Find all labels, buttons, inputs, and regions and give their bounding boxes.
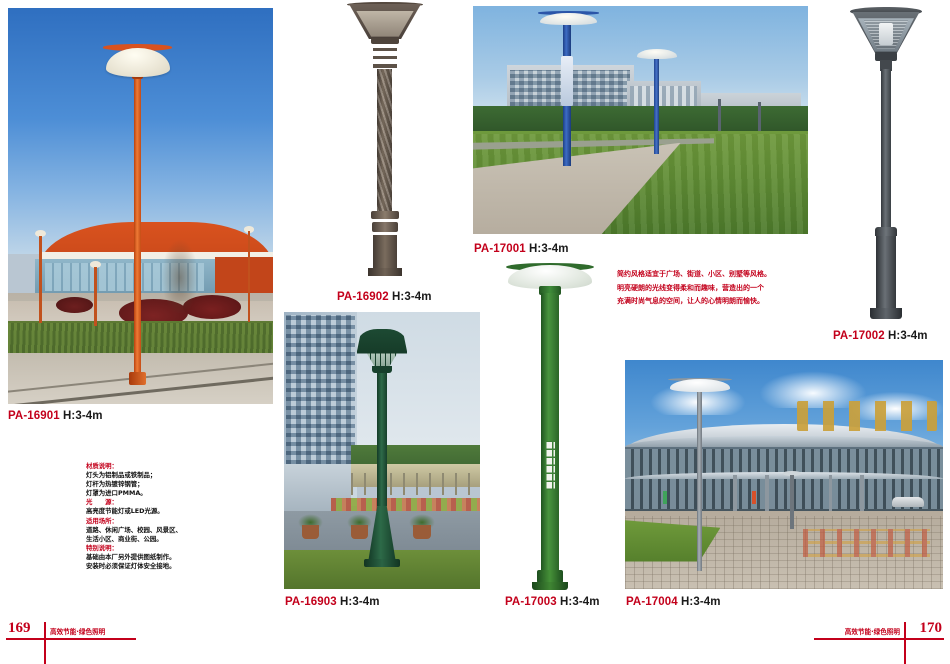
page-number-right: 170: [920, 620, 943, 637]
second-lamp-pole: [654, 58, 659, 154]
blurb-line-1: 简约风格适宜于广场、街道、小区、别墅等风格。: [617, 268, 832, 282]
lamp-pole-base: [129, 372, 146, 385]
background-lamp-pole-2: [94, 267, 97, 326]
pole-shaft: [377, 373, 387, 506]
footer-tagline-right: 高效节能·绿色照明: [845, 626, 900, 636]
pole-knob-lower: [372, 222, 398, 233]
material-heading: 材质说明：: [86, 462, 256, 471]
product-code: PA-17002: [833, 330, 885, 342]
lamp-shade: [357, 329, 408, 354]
pole-bell: [875, 227, 897, 237]
applicable-places-line-1: 道路、休闲广场、校园、风景区、: [86, 526, 256, 535]
material-line-1: 灯头为铝制品或铁制品；: [86, 471, 256, 480]
product-height: H:3-4m: [681, 596, 721, 608]
applicable-places-heading: 适用场所：: [86, 517, 256, 526]
pole-shaft: [881, 69, 891, 228]
red-shrub-left: [56, 297, 93, 313]
material-line-2: 灯杆为热镀锌钢管；: [86, 480, 256, 489]
product-code: PA-16901: [8, 410, 60, 422]
planter-pot-3: [413, 525, 431, 539]
product-photo-pa-17003: [495, 258, 605, 590]
applicable-places-line-2: 生活小区、商业街、公园。: [86, 535, 256, 544]
pole-foot: [364, 559, 399, 567]
background-post-1: [718, 99, 721, 131]
pole-lower-section: [373, 235, 397, 270]
caption-pa-17001: PA-17001 H:3-4m: [474, 243, 569, 255]
catalog-page-spread: PA-16901 H:3-4m PA-16902 H:3-4m: [0, 0, 950, 654]
pole-ring-3: [373, 64, 397, 68]
shade-collar: [371, 38, 400, 45]
footer-rule-right: [814, 638, 944, 640]
footer-divider-right: [904, 622, 906, 664]
special-note-line-2: 安装时必须保证灯体安全接地。: [86, 562, 256, 571]
bare-tree: [159, 234, 201, 313]
specification-block: 材质说明： 灯头为铝制品或铁制品； 灯杆为热镀锌钢管； 灯罩为进口PMMA。 光…: [86, 462, 256, 571]
caption-pa-17004: PA-17004 H:3-4m: [626, 596, 721, 608]
blurb-line-3: 充满时尚气息的空间，让人的心情明朗而愉快。: [617, 295, 832, 309]
lamp-pole-gray: [697, 387, 702, 570]
background-lamp-pole-3: [248, 231, 251, 322]
product-photo-pa-17002: [830, 4, 942, 322]
caption-pa-16903: PA-16903 H:3-4m: [285, 596, 380, 608]
lamp-dome: [670, 379, 730, 392]
pole-foot: [368, 268, 402, 276]
product-code: PA-17003: [505, 596, 557, 608]
material-line-3: 灯罩为进口PMMA。: [86, 489, 256, 498]
base-plate: [532, 582, 567, 590]
product-photo-pa-17001: [473, 6, 808, 234]
parked-car: [892, 497, 924, 506]
building-roof-right: [215, 257, 273, 293]
pole-twist-texture: [377, 69, 393, 210]
special-note-heading: 特别说明：: [86, 544, 256, 553]
facade-column-3: [829, 475, 833, 512]
pole-ring-2: [373, 56, 397, 60]
green-banner: [663, 491, 666, 505]
product-photo-pa-16901: [8, 8, 273, 404]
marketing-blurb: 简约风格适宜于广场、街道、小区、别墅等风格。 明亮硬朗的光线变得柔和而趣味，营造…: [617, 268, 832, 309]
pole-ring-1: [373, 48, 397, 52]
second-lamp-dome: [637, 49, 677, 59]
footer-divider-left: [44, 622, 46, 664]
caption-pa-16901: PA-16901 H:3-4m: [8, 410, 103, 422]
planter-pot-2: [351, 525, 369, 539]
product-photo-pa-16903: [284, 312, 480, 589]
pole-foot: [870, 308, 901, 319]
product-height: H:3-4m: [888, 330, 928, 342]
facade-column-2: [765, 475, 769, 512]
lamp-pole-orange: [134, 75, 141, 384]
building-signage-characters: [797, 401, 937, 431]
tower-windows: [286, 315, 355, 465]
background-lamp-pole: [790, 475, 793, 530]
footer-tagline-left: 高效节能·绿色照明: [50, 626, 105, 636]
product-code: PA-16903: [285, 596, 337, 608]
product-height: H:3-4m: [560, 596, 600, 608]
pole-knob-upper: [371, 211, 400, 219]
lamp-dome: [540, 13, 597, 26]
caption-pa-16902: PA-16902 H:3-4m: [337, 291, 432, 303]
light-source-line-1: 高亮度节能灯或LED光源。: [86, 507, 256, 516]
page-footer: 169 高效节能·绿色照明 170 高效节能·绿色照明: [0, 610, 950, 654]
lamp-bottom-cap: [372, 366, 392, 373]
product-photo-pa-16902: [325, 4, 445, 276]
lamp-diffuser: [356, 11, 414, 37]
special-note-line-1: 基础由本厂另外提供图纸制作。: [86, 553, 256, 562]
red-banner: [752, 491, 755, 505]
pole-base: [876, 236, 896, 309]
product-height: H:3-4m: [340, 596, 380, 608]
page-number-left: 169: [8, 620, 31, 637]
product-code: PA-17001: [474, 243, 526, 255]
illuminated-column-section: [561, 56, 572, 106]
pergola-posts: [351, 473, 480, 495]
lamp-bulb: [879, 23, 892, 45]
column-shaft-green: [541, 293, 559, 572]
product-height: H:3-4m: [63, 410, 103, 422]
facade-column-1: [733, 475, 737, 512]
background-post-2: [758, 102, 761, 132]
caption-pa-17002: PA-17002 H:3-4m: [833, 330, 928, 342]
product-height: H:3-4m: [392, 291, 432, 303]
product-code: PA-17004: [626, 596, 678, 608]
caption-pa-17003: PA-17003 H:3-4m: [505, 596, 600, 608]
window-grid: [545, 441, 555, 491]
decorative-paving-pattern: [803, 529, 930, 556]
product-photo-pa-17004: [625, 360, 943, 589]
blurb-line-2: 明亮硬朗的光线变得柔和而趣味，营造出的一个: [617, 282, 832, 296]
planter-pot-1: [302, 525, 320, 539]
facade-column-4: [860, 475, 864, 512]
product-code: PA-16902: [337, 291, 389, 303]
product-height: H:3-4m: [529, 243, 569, 255]
background-lamp-pole-1: [39, 236, 42, 323]
footer-rule-left: [6, 638, 136, 640]
